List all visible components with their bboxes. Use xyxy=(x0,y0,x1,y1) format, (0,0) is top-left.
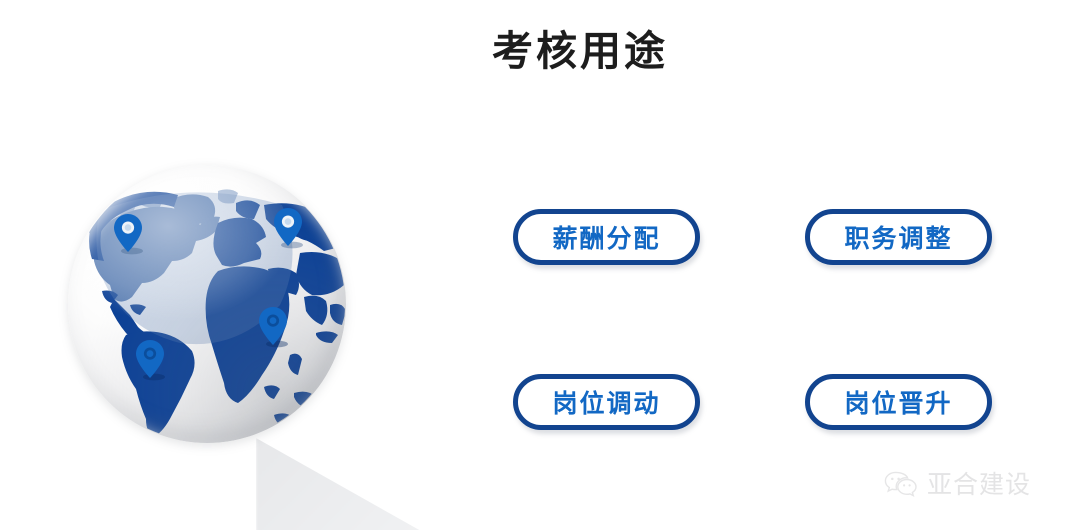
pill-button-label: 岗位晋升 xyxy=(844,384,952,420)
pill-button-position-adjustment[interactable]: 职务调整 xyxy=(805,209,992,265)
watermark-text: 亚合建设 xyxy=(927,470,1031,500)
map-pin-africa-icon xyxy=(257,306,289,348)
slide-canvas: 考核用途 xyxy=(0,0,1080,530)
globe-cast-shadow xyxy=(256,438,586,530)
page-title: 考核用途 xyxy=(0,25,1080,77)
map-pin-north-america-icon xyxy=(112,213,144,255)
pill-button-label: 薪酬分配 xyxy=(552,219,660,255)
pill-button-job-promotion[interactable]: 岗位晋升 xyxy=(805,374,992,430)
globe-illustration xyxy=(68,165,348,445)
pill-button-salary-allocation[interactable]: 薪酬分配 xyxy=(513,209,700,265)
globe-sphere xyxy=(68,165,346,443)
pill-button-label: 岗位调动 xyxy=(552,384,660,420)
map-pin-south-america-icon xyxy=(134,339,166,381)
globe-continents xyxy=(68,165,346,443)
watermark: 亚合建设 xyxy=(884,470,1031,500)
pill-button-job-transfer[interactable]: 岗位调动 xyxy=(513,374,700,430)
pill-button-label: 职务调整 xyxy=(844,219,952,255)
map-pin-europe-icon xyxy=(272,207,304,249)
wechat-icon xyxy=(884,471,918,499)
